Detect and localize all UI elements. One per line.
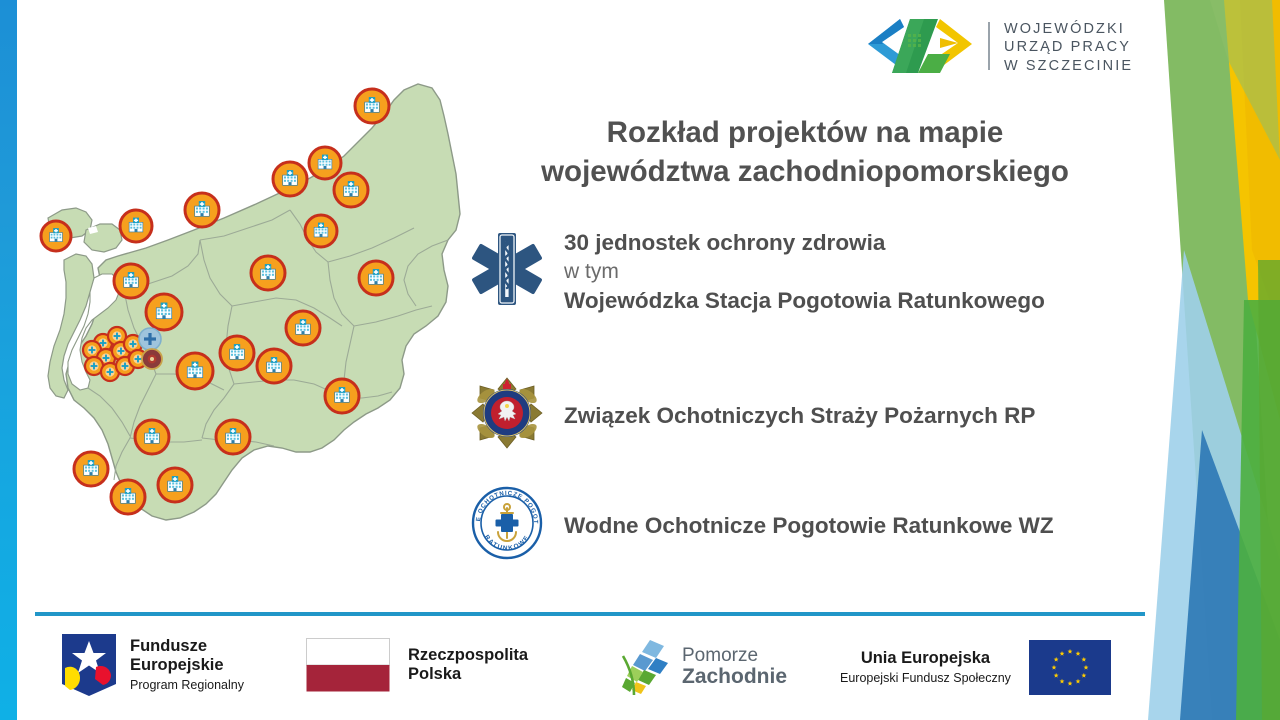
map-marker-health[interactable]: [135, 420, 169, 454]
map-marker-health[interactable]: [146, 294, 182, 330]
map-marker-water[interactable]: [139, 328, 161, 350]
logo-divider: [988, 22, 990, 70]
fe-sub: Program Regionalny: [130, 678, 244, 693]
legend-item-water: WODNE OCHOTNICZE POGOTOWIE RATUNKOWE: [470, 486, 1054, 565]
map-marker-fire[interactable]: [142, 349, 162, 369]
map-marker-health[interactable]: [220, 336, 254, 370]
legend-health-line-2: w tym: [564, 258, 1045, 286]
map-region-shapes: [48, 84, 460, 520]
zachodniopomorskie-voivodeship-map: [28, 78, 468, 568]
map-marker-health[interactable]: [325, 379, 359, 413]
map-marker-health[interactable]: [216, 420, 250, 454]
map-marker-health[interactable]: [185, 193, 219, 227]
map-marker-health[interactable]: [305, 215, 337, 247]
page-title: Rozkład projektów na mapie województwa z…: [455, 114, 1155, 191]
legend-item-health-text: 30 jednostek ochrony zdrowia w tym Wojew…: [564, 228, 1045, 316]
map-marker-health[interactable]: [41, 221, 71, 251]
map-marker-health[interactable]: [120, 210, 152, 242]
legend-water-line-1: Wodne Ochotnicze Pogotowie Ratunkowe WZ: [564, 511, 1054, 541]
rzeczpospolita-polska-logo: Rzeczpospolita Polska: [306, 638, 528, 692]
wup-line-3: W SZCZECINIE: [1004, 57, 1133, 75]
page-title-line-2: województwa zachodniopomorskiego: [455, 153, 1155, 192]
map-marker-health[interactable]: [355, 89, 389, 123]
map-marker-health[interactable]: [257, 349, 291, 383]
map-marker-health[interactable]: [158, 468, 192, 502]
wopr-emblem-icon: WODNE OCHOTNICZE POGOTOWIE RATUNKOWE: [470, 486, 544, 565]
wup-line-2: URZĄD PRACY: [1004, 38, 1133, 56]
star-of-life-icon: [470, 231, 544, 312]
zosp-rp-emblem-icon: [470, 376, 544, 455]
fundusze-europejskie-logo: Fundusze Europejskie Program Regionalny: [62, 634, 244, 696]
fe-line-2: Europejskie: [130, 656, 244, 675]
unia-europejska-logo: Unia Europejska Europejski Fundusz Społe…: [840, 640, 1111, 695]
footer-logos: Fundusze Europejskie Program Regionalny …: [0, 626, 1160, 714]
ue-label: Unia Europejska Europejski Fundusz Społe…: [840, 649, 1011, 686]
legend-item-fire: Związek Ochotniczych Straży Pożarnych RP: [470, 376, 1035, 455]
legend-health-line-3: Wojewódzka Stacja Pogotowia Ratunkowego: [564, 286, 1045, 316]
footer-divider: [35, 612, 1145, 616]
map-marker-health[interactable]: [177, 353, 213, 389]
left-accent-bar: [0, 0, 17, 720]
pz-label: Pomorze Zachodnie: [682, 646, 787, 688]
map-marker-health[interactable]: [309, 147, 341, 179]
wup-line-1: WOJEWÓDZKI: [1004, 20, 1133, 38]
page-title-line-1: Rozkład projektów na mapie: [455, 114, 1155, 153]
ue-line-1: Unia Europejska: [840, 649, 1011, 668]
legend-item-health: 30 jednostek ochrony zdrowia w tym Wojew…: [470, 228, 1045, 316]
ue-sub: Europejski Fundusz Społeczny: [840, 671, 1011, 686]
map-marker-health[interactable]: [111, 480, 145, 514]
slide-root: WOJEWÓDZKI URZĄD PRACY W SZCZECINIE Rozk…: [0, 0, 1280, 720]
map-marker-health[interactable]: [114, 264, 148, 298]
map-marker-health[interactable]: [359, 261, 393, 295]
fe-line-1: Fundusze: [130, 637, 244, 656]
rp-line-2: Polska: [408, 665, 528, 684]
map-marker-health[interactable]: [286, 311, 320, 345]
poland-flag-icon: [306, 638, 390, 692]
fe-label: Fundusze Europejskie Program Regionalny: [130, 637, 244, 693]
pomorze-zachodnie-logo: Pomorze Zachodnie: [620, 638, 787, 696]
rp-label: Rzeczpospolita Polska: [408, 646, 528, 684]
map-marker-health[interactable]: [273, 162, 307, 196]
legend-item-fire-text: Związek Ochotniczych Straży Pożarnych RP: [564, 401, 1035, 431]
wup-logo-text: WOJEWÓDZKI URZĄD PRACY W SZCZECINIE: [1004, 20, 1133, 75]
wup-logo-mark: [866, 18, 974, 74]
pz-line-2: Zachodnie: [682, 666, 787, 688]
pz-mark: [620, 638, 672, 696]
legend-fire-line-1: Związek Ochotniczych Straży Pożarnych RP: [564, 401, 1035, 431]
fe-mark: [62, 634, 116, 696]
eu-flag-icon: [1029, 640, 1111, 695]
wup-szczecin-logo: WOJEWÓDZKI URZĄD PRACY W SZCZECINIE: [866, 16, 1106, 78]
map-marker-health[interactable]: [251, 256, 285, 290]
legend-item-water-text: Wodne Ochotnicze Pogotowie Ratunkowe WZ: [564, 511, 1054, 541]
angled-ribbons-decoration: [1140, 0, 1280, 720]
pz-line-1: Pomorze: [682, 646, 787, 666]
map-marker-health[interactable]: [74, 452, 108, 486]
map-marker-health[interactable]: [334, 173, 368, 207]
legend-health-line-1: 30 jednostek ochrony zdrowia: [564, 228, 1045, 258]
rp-line-1: Rzeczpospolita: [408, 646, 528, 665]
